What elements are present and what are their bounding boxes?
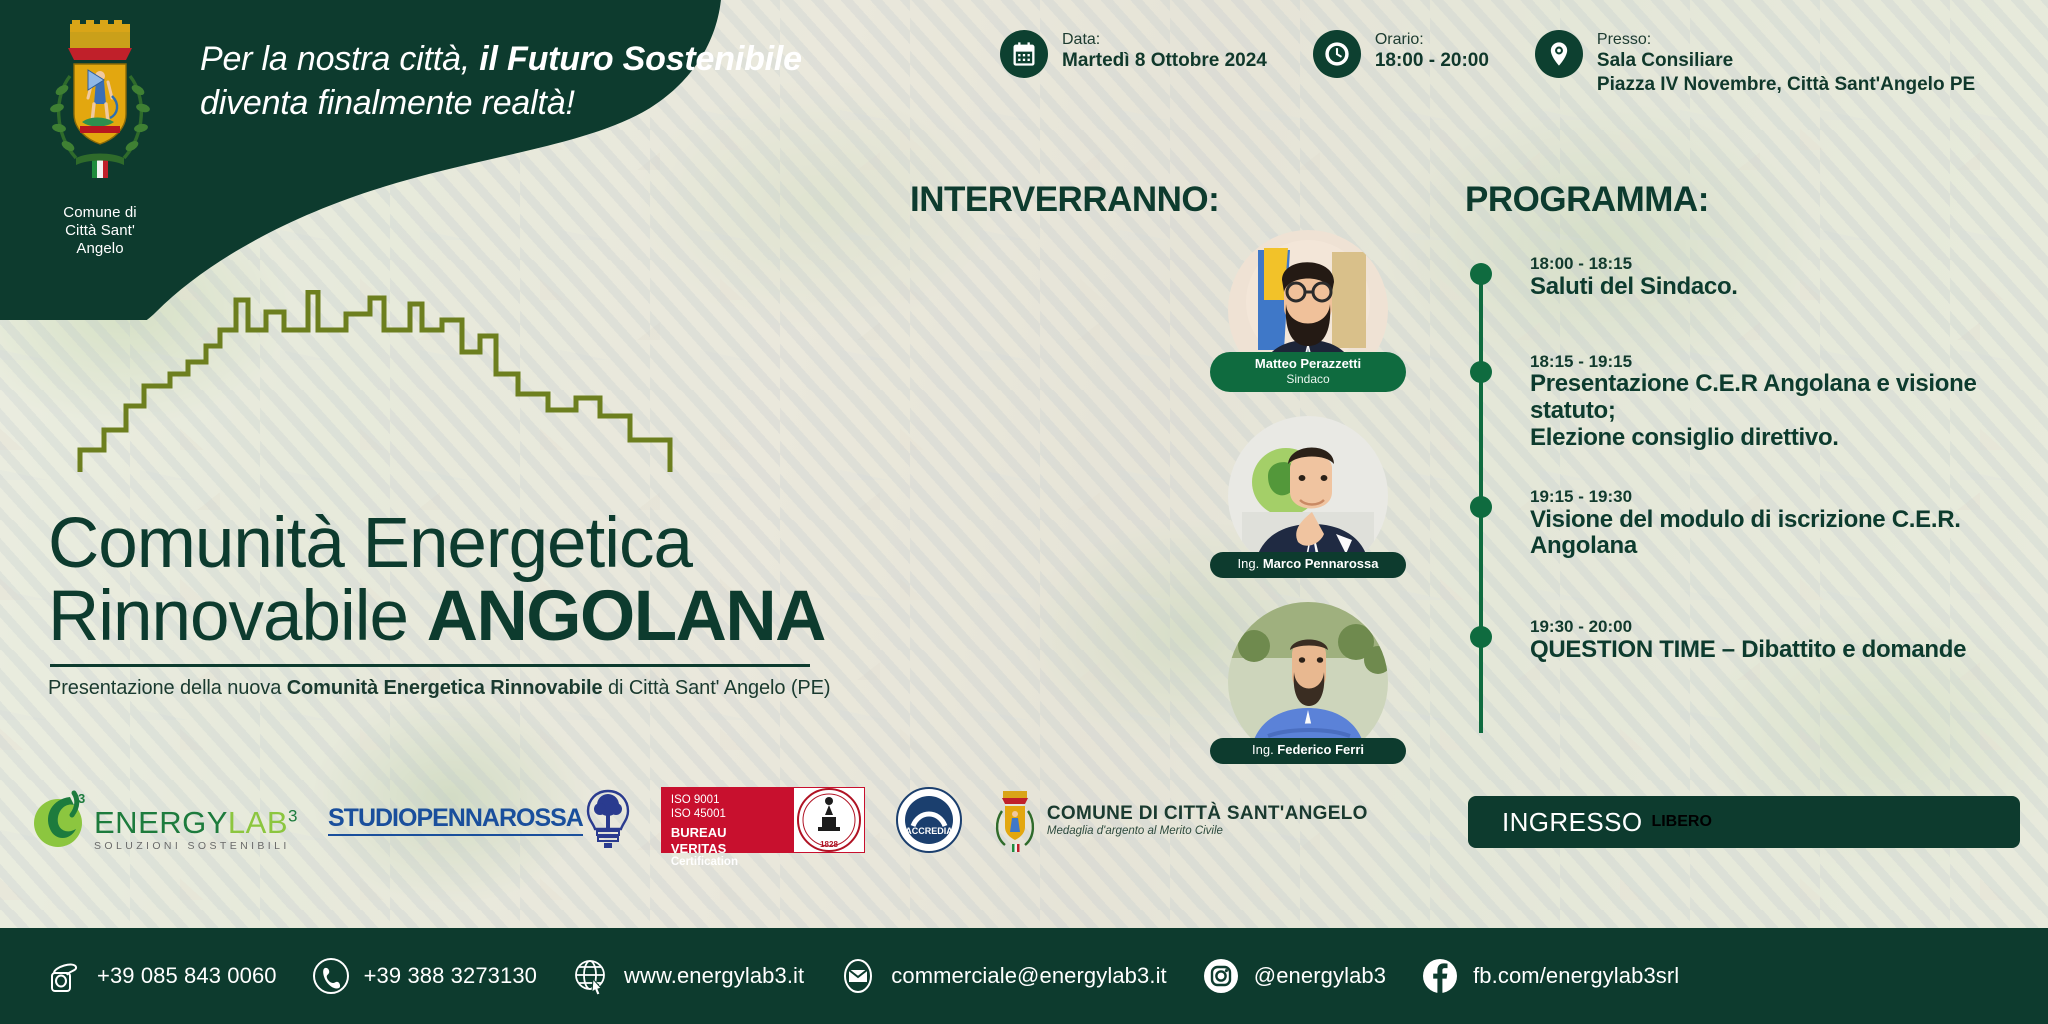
speaker-role: Sindaco — [1218, 372, 1398, 386]
programme-timeline: 18:00 - 18:15 Saluti del Sindaco. 18:15 … — [1470, 255, 2030, 664]
landline-phone-icon — [44, 956, 84, 996]
page-title-line2-light: Rinnovabile — [48, 577, 427, 656]
bureau-veritas-red-panel: ISO 9001 ISO 45001 BUREAU VERITAS Certif… — [661, 787, 793, 853]
comune-wordmark: COMUNE DI CITTÀ SANT'ANGELO Medaglia d'a… — [1047, 803, 1368, 837]
timeline-item: 19:30 - 20:00 QUESTION TIME – Dibattito … — [1470, 618, 2030, 664]
timeline-text: Presentazione C.E.R Angolana e visione s… — [1530, 371, 2030, 425]
page-title-line2-bold: ANGOLANA — [427, 577, 825, 656]
meta-item-date: Data: Martedì 8 Ottobre 2024 — [1000, 30, 1267, 78]
timeline-text: QUESTION TIME – Dibattito e domande — [1530, 637, 2030, 664]
timeline-time: 19:30 - 20:00 — [1530, 618, 2030, 637]
speaker-name-badge: Ing. Marco Pennarossa — [1210, 552, 1406, 578]
programme-heading: PROGRAMMA: — [1465, 180, 1709, 220]
phone-handset-icon — [311, 956, 351, 996]
speaker-prefix: Ing. — [1252, 742, 1277, 757]
contact-facebook-text: fb.com/energylab3srl — [1473, 963, 1679, 989]
meta-time-value: 18:00 - 20:00 — [1375, 49, 1489, 73]
svg-text:1828: 1828 — [820, 840, 838, 849]
subtitle-part-b: Comunità Energetica Rinnovabile — [287, 677, 603, 699]
timeline-item: 18:00 - 18:15 Saluti del Sindaco. — [1470, 255, 2030, 301]
meta-date-value: Martedì 8 Ottobre 2024 — [1062, 49, 1267, 73]
subtitle-part-c: di Città Sant' Angelo (PE) — [603, 677, 831, 699]
meta-place-label: Presso: — [1597, 31, 1975, 49]
logo-energylab3: 3 ENERGYLAB3 SOLUZIONI SOSTENIBILI — [30, 789, 298, 851]
energylab3-name: ENERGYLAB3 — [94, 807, 298, 838]
accredia-icon: ACCREDIA — [895, 786, 963, 854]
meta-place-value: Sala Consiliare — [1597, 49, 1975, 73]
subtitle-part-a: Presentazione della nuova — [48, 677, 287, 699]
municipal-crest: Comune di Città Sant' Angelo — [40, 18, 160, 258]
speakers-list: Matteo Perazzetti Sindaco — [1218, 230, 1408, 788]
tagline-line2: diventa finalmente realtà! — [200, 82, 802, 126]
speaker-card: Ing. Marco Pennarossa — [1218, 416, 1398, 576]
speaker-name-badge: Ing. Federico Ferri — [1210, 738, 1406, 764]
crest-caption-line1: Comune di — [40, 204, 160, 222]
main-title-block: Comunità Energetica Rinnovabile ANGOLANA… — [48, 510, 868, 700]
meta-date-text: Data: Martedì 8 Ottobre 2024 — [1062, 30, 1267, 73]
timeline-text: Visione del modulo di iscrizione C.E.R. … — [1530, 507, 2030, 561]
contact-landline-text: +39 085 843 0060 — [97, 963, 277, 989]
contact-mobile-text: +39 388 3273130 — [364, 963, 537, 989]
speaker-fullname: Marco Pennarossa — [1263, 556, 1379, 571]
ingresso-value: LIBERO — [1651, 813, 1711, 831]
contact-website[interactable]: www.energylab3.it — [571, 956, 804, 996]
meta-item-place: Presso: Sala Consiliare Piazza IV Novemb… — [1535, 30, 1975, 97]
contact-facebook[interactable]: fb.com/energylab3srl — [1420, 956, 1679, 996]
tagline-line1-bold: il Futuro Sostenibile — [479, 40, 802, 78]
crest-icon — [48, 18, 152, 198]
tagline: Per la nostra città, il Futuro Sostenibi… — [200, 38, 802, 125]
crest-caption: Comune di Città Sant' Angelo — [40, 204, 160, 258]
contact-email[interactable]: commerciale@energylab3.it — [838, 956, 1167, 996]
footer-contact-bar: +39 085 843 0060 +39 388 3273130 www.ene… — [0, 928, 2048, 1024]
event-meta-strip: Data: Martedì 8 Ottobre 2024 Orario: 18:… — [1000, 30, 1975, 97]
timeline-time: 18:00 - 18:15 — [1530, 255, 2030, 274]
bv-name: BUREAU VERITAS — [671, 825, 785, 856]
ingresso-label: INGRESSO — [1502, 807, 1642, 838]
poster-canvas: Comune di Città Sant' Angelo Per la nost… — [0, 0, 2048, 1024]
contact-mobile[interactable]: +39 388 3273130 — [311, 956, 537, 996]
speaker-name: Matteo Perazzetti — [1218, 357, 1398, 372]
studiopennarossa-wordmark: STUDIOPENNAROSSA — [328, 804, 583, 836]
bv-iso-9001: ISO 9001 — [671, 793, 785, 807]
contact-website-text: www.energylab3.it — [624, 963, 804, 989]
ingresso-libero-banner: INGRESSOLIBERO — [1468, 796, 2020, 848]
timeline-dot — [1470, 626, 1492, 648]
speaker-name: Ing. Federico Ferri — [1218, 743, 1398, 758]
timeline-text: Saluti del Sindaco. — [1530, 274, 2030, 301]
energylab3-superscript: 3 — [288, 806, 298, 825]
facebook-icon — [1420, 956, 1460, 996]
crest-caption-line2: Città Sant' Angelo — [40, 222, 160, 258]
sponsor-logos: 3 ENERGYLAB3 SOLUZIONI SOSTENIBILI STUDI… — [30, 786, 1368, 854]
tagline-line1-light: Per la nostra città, — [200, 40, 479, 78]
bv-iso-45001: ISO 45001 — [671, 807, 785, 821]
bureau-veritas-seal: 1828 — [793, 787, 865, 853]
speaker-name: Ing. Marco Pennarossa — [1218, 557, 1398, 572]
location-pin-icon — [1535, 30, 1583, 78]
timeline-dot — [1470, 361, 1492, 383]
tagline-line1: Per la nostra città, il Futuro Sostenibi… — [200, 38, 802, 82]
meta-place-value2: Piazza IV Novembre, Città Sant'Angelo PE — [1597, 73, 1975, 97]
comune-name: COMUNE DI CITTÀ SANT'ANGELO — [1047, 803, 1368, 825]
energylab3-name-a: ENERGY — [94, 805, 228, 840]
contact-email-text: commerciale@energylab3.it — [891, 963, 1167, 989]
speaker-card: Matteo Perazzetti Sindaco — [1218, 230, 1398, 390]
clock-icon — [1313, 30, 1361, 78]
contact-instagram[interactable]: @energylab3 — [1201, 956, 1386, 996]
meta-place-text: Presso: Sala Consiliare Piazza IV Novemb… — [1597, 30, 1975, 97]
contact-instagram-text: @energylab3 — [1254, 963, 1386, 989]
energylab3-slogan: SOLUZIONI SOSTENIBILI — [94, 841, 298, 852]
bv-seal-icon: 1828 — [794, 787, 864, 853]
svg-text:ACCREDIA: ACCREDIA — [905, 826, 953, 836]
lightbulb-tree-icon — [585, 789, 631, 851]
timeline-item: 19:15 - 19:30 Visione del modulo di iscr… — [1470, 488, 2030, 560]
timeline-time: 19:15 - 19:30 — [1530, 488, 2030, 507]
energylab3-wordmark: ENERGYLAB3 SOLUZIONI SOSTENIBILI — [94, 807, 298, 852]
svg-text:3: 3 — [78, 791, 85, 806]
envelope-icon — [838, 956, 878, 996]
energylab3-mark-icon: 3 — [30, 789, 92, 851]
logo-comune: COMUNE DI CITTÀ SANT'ANGELO Medaglia d'a… — [993, 787, 1368, 853]
meta-item-time: Orario: 18:00 - 20:00 — [1313, 30, 1489, 78]
bv-certification: Certification — [671, 856, 785, 870]
timeline-item: 18:15 - 19:15 Presentazione C.E.R Angola… — [1470, 353, 2030, 452]
timeline-text-second-line: Elezione consiglio direttivo. — [1530, 425, 2030, 452]
logo-studiopennarossa: STUDIOPENNAROSSA — [328, 789, 631, 851]
logo-bureau-veritas: ISO 9001 ISO 45001 BUREAU VERITAS Certif… — [661, 787, 865, 853]
town-skyline-outline — [70, 290, 690, 480]
instagram-icon — [1201, 956, 1241, 996]
comune-crest-icon — [993, 787, 1037, 853]
timeline-dot — [1470, 263, 1492, 285]
energylab3-name-b: LAB — [228, 805, 288, 840]
speaker-name-badge: Matteo Perazzetti Sindaco — [1210, 352, 1406, 392]
page-title-line1: Comunità Energetica — [48, 510, 868, 577]
speaker-prefix: Ing. — [1238, 556, 1263, 571]
title-divider — [50, 664, 810, 667]
subtitle: Presentazione della nuova Comunità Energ… — [48, 677, 868, 700]
contact-landline[interactable]: +39 085 843 0060 — [44, 956, 277, 996]
globe-icon — [571, 956, 611, 996]
meta-time-text: Orario: 18:00 - 20:00 — [1375, 30, 1489, 73]
meta-date-label: Data: — [1062, 31, 1267, 49]
timeline-time: 18:15 - 19:15 — [1530, 353, 2030, 372]
calendar-icon — [1000, 30, 1048, 78]
speaker-fullname: Matteo Perazzetti — [1255, 356, 1361, 371]
timeline-dot — [1470, 496, 1492, 518]
speaker-card: Ing. Federico Ferri — [1218, 602, 1398, 762]
comune-subtitle: Medaglia d'argento al Merito Civile — [1047, 825, 1368, 837]
speaker-fullname: Federico Ferri — [1277, 742, 1364, 757]
speakers-heading: INTERVERRANNO: — [910, 180, 1219, 220]
page-title-line2: Rinnovabile ANGOLANA — [48, 581, 868, 652]
meta-time-label: Orario: — [1375, 31, 1489, 49]
logo-accredia: ACCREDIA — [895, 786, 963, 854]
